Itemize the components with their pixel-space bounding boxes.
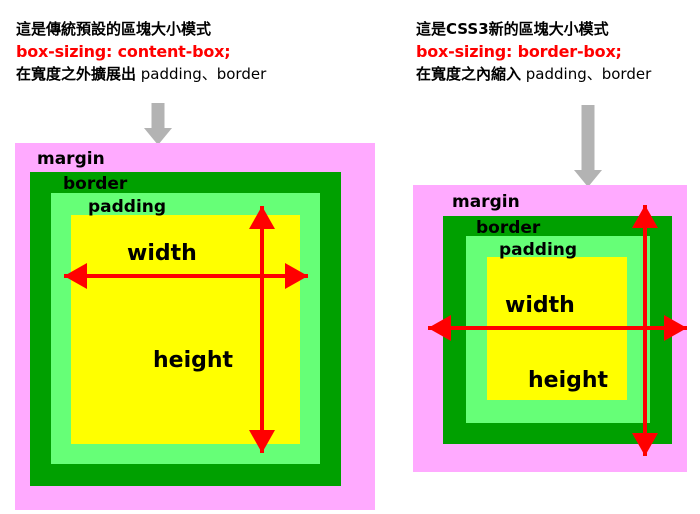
diagram-canvas: 這是傳統預設的區塊大小模式 box-sizing: content-box; 在…	[0, 0, 700, 514]
right-caption-block: 這是CSS3新的區塊大小模式 box-sizing: border-box; 在…	[416, 22, 651, 82]
arrow-head-up	[632, 205, 658, 228]
left-caption-line-3-thin: padding、border	[136, 65, 266, 83]
arrow-head-left	[64, 263, 87, 289]
left-caption-line-1: 這是傳統預設的區塊大小模式	[16, 22, 266, 37]
measure-line	[260, 206, 264, 453]
border-label: border	[476, 220, 540, 237]
height-measure-arrow	[632, 205, 658, 456]
padding-label: padding	[499, 242, 577, 259]
arrow-head-right	[664, 315, 687, 341]
height-measure-arrow	[249, 206, 275, 453]
right-caption-line-1: 這是CSS3新的區塊大小模式	[416, 22, 651, 37]
border-label: border	[63, 176, 127, 193]
width-label: width	[505, 295, 575, 317]
margin-label: margin	[452, 194, 520, 211]
arrow-head-down	[632, 433, 658, 456]
arrow-head-up	[249, 206, 275, 229]
width-label: width	[127, 243, 197, 265]
height-label: height	[153, 350, 233, 372]
right-caption-line-3: 在寬度之內縮入 padding、border	[416, 67, 651, 82]
left-caption-line-3-bold: 在寬度之外擴展出	[16, 65, 136, 83]
border-box-diagram: margin border padding width height	[413, 185, 687, 472]
left-caption-code: box-sizing: content-box;	[16, 44, 266, 60]
arrow-head-left	[428, 315, 451, 341]
arrow-head-right	[285, 263, 308, 289]
arrow-shaft	[152, 103, 165, 130]
content-box-diagram: margin border padding width height	[15, 143, 375, 510]
right-caption-line-3-bold: 在寬度之內縮入	[416, 65, 521, 83]
right-caption-code: box-sizing: border-box;	[416, 44, 651, 60]
left-caption-line-3: 在寬度之外擴展出 padding、border	[16, 67, 266, 82]
arrow-down-icon	[574, 105, 602, 187]
height-label: height	[528, 370, 608, 392]
measure-line	[643, 205, 647, 456]
margin-label: margin	[37, 151, 105, 168]
arrow-shaft	[582, 105, 595, 172]
padding-label: padding	[88, 199, 166, 216]
left-caption-block: 這是傳統預設的區塊大小模式 box-sizing: content-box; 在…	[16, 22, 266, 82]
right-caption-line-3-thin: padding、border	[521, 65, 651, 83]
arrow-down-icon	[144, 103, 172, 145]
arrow-head-down	[249, 430, 275, 453]
